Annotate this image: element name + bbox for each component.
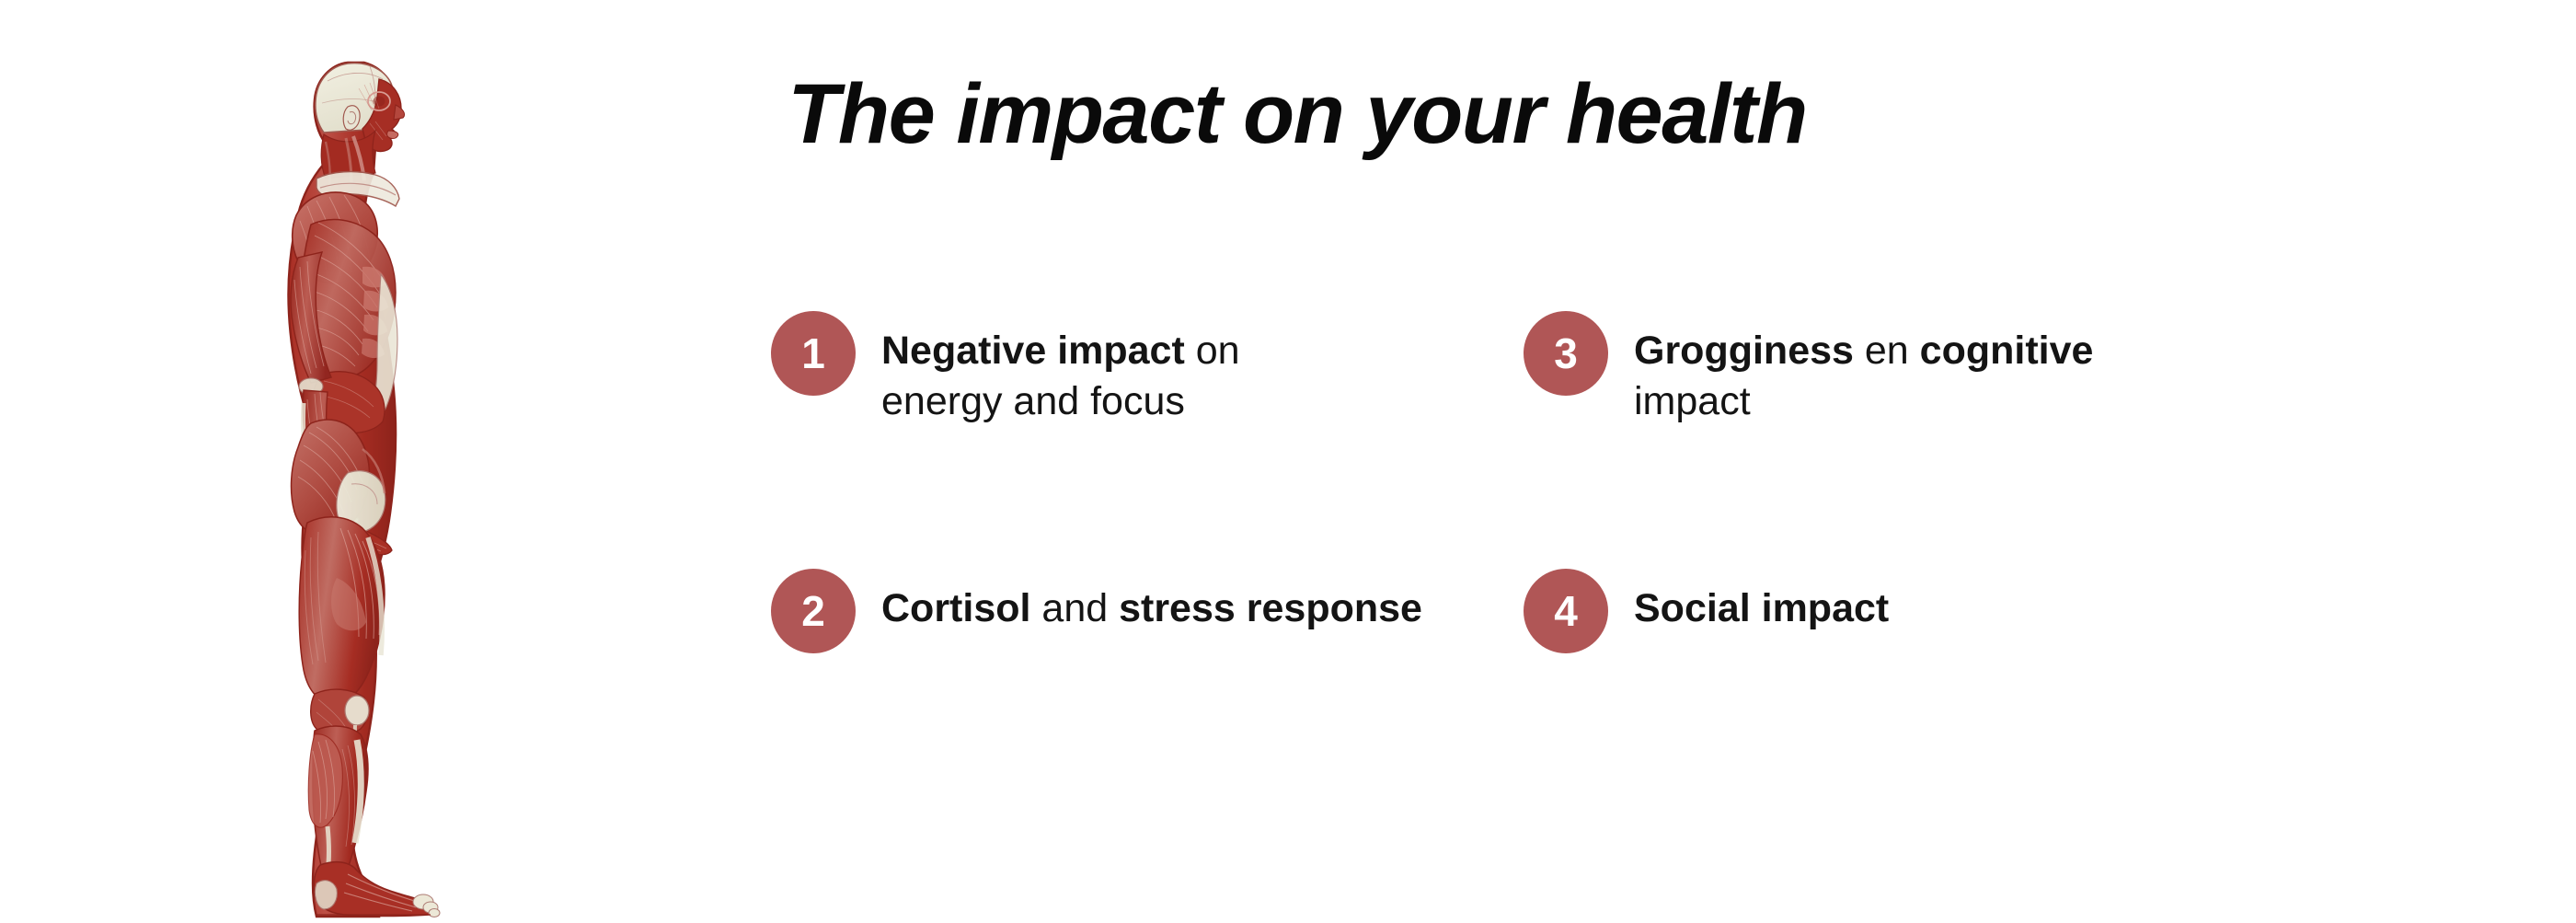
impact-item-2: 2 Cortisol and stress response [771, 569, 1524, 653]
impact-text-2-plain: and [1030, 586, 1119, 630]
impact-text-3-line2: impact [1634, 379, 1751, 423]
impact-text-1-rest: on [1185, 329, 1240, 373]
human-anatomy-illustration [259, 26, 453, 923]
impact-badge-4: 4 [1524, 569, 1608, 653]
impact-item-3: 3 Grogginess en cognitive impact [1524, 311, 2276, 569]
impact-item-1: 1 Negative impact on energy and focus [771, 311, 1524, 569]
impact-text-1-line2: energy and focus [881, 379, 1185, 423]
impact-item-4: 4 Social impact [1524, 569, 2276, 653]
foot-region [314, 862, 440, 917]
impact-text-1-bold: Negative impact [881, 329, 1185, 373]
impact-text-2: Cortisol and stress response [881, 569, 1422, 634]
impact-text-2-bold-b: stress response [1119, 586, 1422, 630]
impact-text-3-bold-b: cognitive [1920, 329, 2094, 373]
impact-text-4-label: Social impact [1634, 586, 1889, 630]
impact-text-4: Social impact [1634, 569, 1889, 634]
impact-items-list: 1 Negative impact on energy and focus 3 … [771, 311, 2409, 653]
impact-text-2-bold-a: Cortisol [881, 586, 1030, 630]
impact-text-1: Negative impact on energy and focus [881, 311, 1240, 427]
page-title: The impact on your health [736, 64, 1858, 165]
impact-text-3-bold-a: Grogginess [1634, 329, 1854, 373]
impact-badge-3: 3 [1524, 311, 1608, 396]
impact-badge-2: 2 [771, 569, 856, 653]
impact-text-3: Grogginess en cognitive impact [1634, 311, 2093, 427]
impact-text-3-plain: en [1854, 329, 1920, 373]
impact-badge-1: 1 [771, 311, 856, 396]
